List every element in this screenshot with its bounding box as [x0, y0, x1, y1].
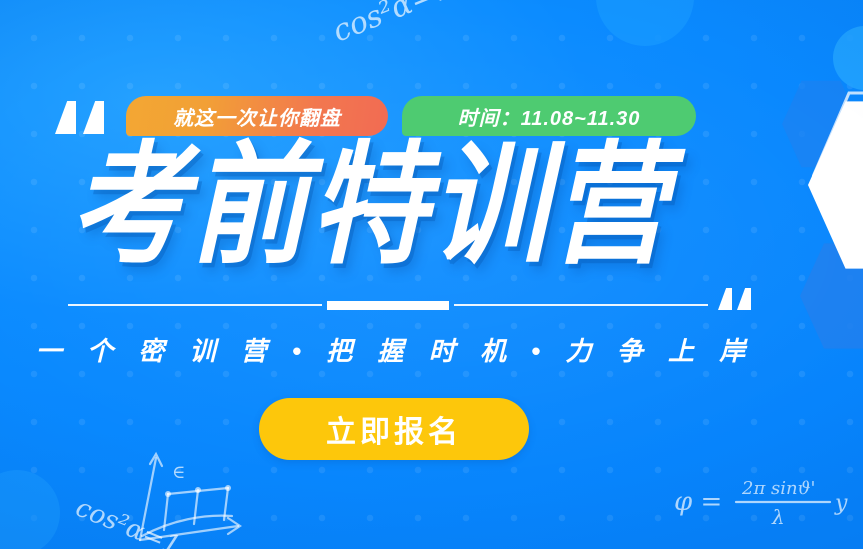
- badge-offer: 就这一次让你翻盘: [126, 96, 388, 136]
- divider-center-bar: [327, 301, 449, 310]
- page-title: 考前特训营: [70, 140, 670, 272]
- quote-open-mark-2: [83, 101, 104, 134]
- quote-close-icon: [718, 288, 751, 310]
- quote-open-mark-1: [55, 101, 76, 134]
- signup-button[interactable]: 立即报名: [259, 398, 529, 460]
- divider-rule-left: [68, 304, 322, 306]
- badge-row: 就这一次让你翻盘 时间：11.08~11.30: [126, 96, 696, 136]
- quote-close-mark-1: [718, 288, 732, 310]
- badge-date: 时间：11.08~11.30: [402, 96, 696, 136]
- divider-rule-right: [454, 304, 708, 306]
- promo-banner: cos²α=1 ∈ cos²α=1 φ = 2π sin𝜗' λ y: [0, 0, 863, 549]
- quote-close-mark-2: [737, 288, 751, 310]
- divider: [68, 300, 708, 310]
- quote-open-icon: [55, 101, 104, 134]
- subtitle-tagline: 一 个 密 训 营 • 把 握 时 机 • 力 争 上 岸: [0, 331, 790, 368]
